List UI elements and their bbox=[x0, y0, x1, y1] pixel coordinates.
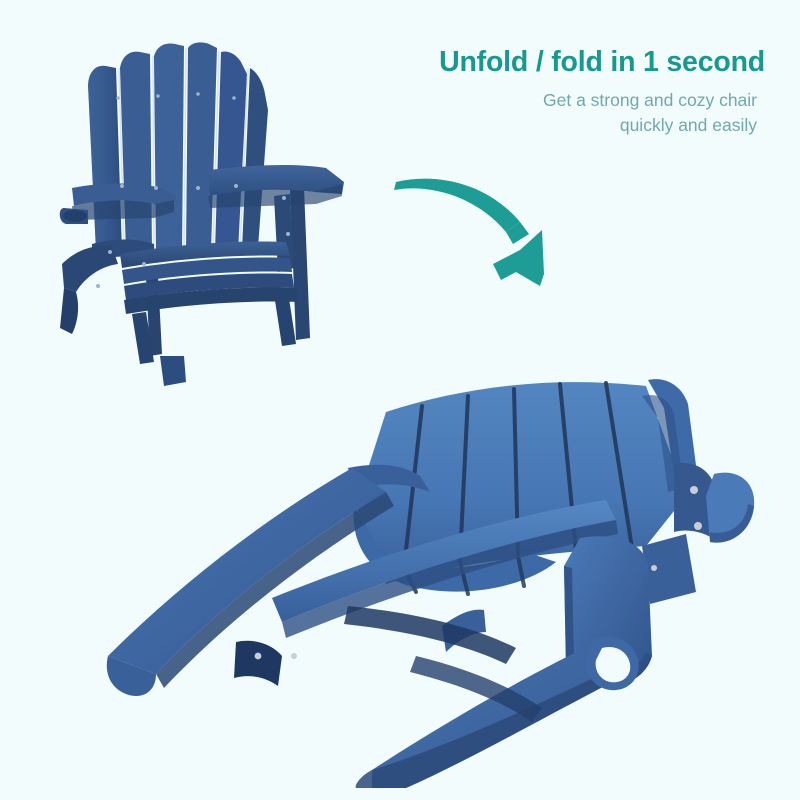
folded-hinge-left bbox=[234, 641, 282, 686]
adirondack-chair-folded-illustration bbox=[86, 356, 758, 788]
subtitle-text: Get a strong and cozy chair quickly and … bbox=[435, 88, 757, 138]
page-title: Unfold / fold in 1 second bbox=[405, 46, 765, 79]
chair-back-slats bbox=[88, 42, 268, 252]
adirondack-chair-unfolded-illustration bbox=[58, 38, 364, 364]
subtitle-line-2: quickly and easily bbox=[435, 113, 757, 138]
folded-detached-bracket bbox=[160, 356, 186, 386]
curved-arrow-icon bbox=[392, 168, 568, 290]
promo-panel: Unfold / fold in 1 second Get a strong a… bbox=[0, 0, 800, 800]
subtitle-line-1: Get a strong and cozy chair bbox=[435, 88, 757, 113]
